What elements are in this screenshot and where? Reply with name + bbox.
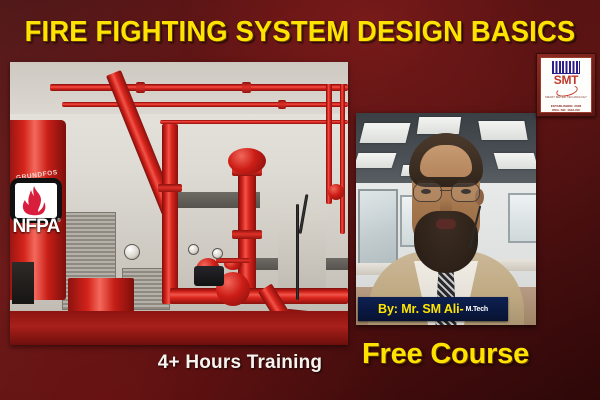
- smt-logo-word: SMT: [554, 75, 578, 86]
- presenter-mouth: [436, 219, 456, 229]
- ceiling-light-panel: [417, 117, 461, 134]
- pipe-flange: [158, 184, 182, 192]
- pipe-flange: [232, 230, 262, 239]
- pressure-gauge: [188, 244, 199, 255]
- pipe-flange: [136, 82, 145, 93]
- photo-floor: [10, 311, 348, 345]
- presenter-video: [356, 113, 536, 325]
- valve-handwheel: [216, 258, 250, 263]
- presenter-name: By: Mr. SM Ali-: [378, 302, 464, 316]
- valve-body: [228, 148, 266, 174]
- pressure-gauge: [124, 244, 140, 260]
- nfpa-logo: NFPA ®: [8, 178, 64, 240]
- motor-housing: [194, 266, 224, 286]
- nfpa-registered-mark: ®: [57, 218, 61, 224]
- course-promo-slide: FIRE FIGHTING SYSTEM DESIGN BASICS SMT S…: [0, 0, 600, 400]
- swoosh-icon: [553, 86, 579, 94]
- ceiling-light-panel: [494, 153, 536, 169]
- page-title: FIRE FIGHTING SYSTEM DESIGN BASICS: [12, 18, 588, 47]
- riser-pipe: [340, 84, 345, 234]
- ceiling-pipe: [62, 102, 348, 107]
- presenter-forehead: [420, 145, 472, 177]
- alarm-bell: [328, 184, 344, 200]
- presenter-name-banner: By: Mr. SM Ali- M.Tech: [358, 297, 508, 321]
- main-riser-pipe: [162, 124, 178, 304]
- nfpa-wordmark: NFPA: [8, 216, 64, 238]
- pipe-flange: [278, 100, 286, 109]
- office-window: [508, 193, 536, 243]
- ceiling-pipe: [160, 120, 348, 124]
- glass-partition: [358, 189, 398, 267]
- smt-logo: SMT SMART METER TECHNOLOGY ESTABLISHED: …: [536, 53, 596, 117]
- free-course-label: Free Course: [362, 338, 582, 371]
- flexible-hose: [296, 204, 299, 300]
- ceiling-light-panel: [478, 121, 527, 140]
- smt-logo-established-2: REG. NO: 1622-OR: [552, 108, 580, 112]
- ceiling-pipe: [50, 84, 348, 91]
- smt-logo-inner: SMT SMART METER TECHNOLOGY ESTABLISHED: …: [540, 57, 592, 113]
- flame-icon: [21, 186, 47, 216]
- presenter-degree: M.Tech: [466, 306, 488, 313]
- ceiling-light-panel: [356, 153, 396, 168]
- training-hours-label: 4+ Hours Training: [120, 352, 360, 374]
- pipe-flange: [242, 82, 251, 93]
- control-box: [12, 262, 34, 304]
- ceiling-light-panel: [360, 123, 411, 143]
- equipment-door: [68, 278, 134, 312]
- pressure-gauge: [212, 248, 223, 259]
